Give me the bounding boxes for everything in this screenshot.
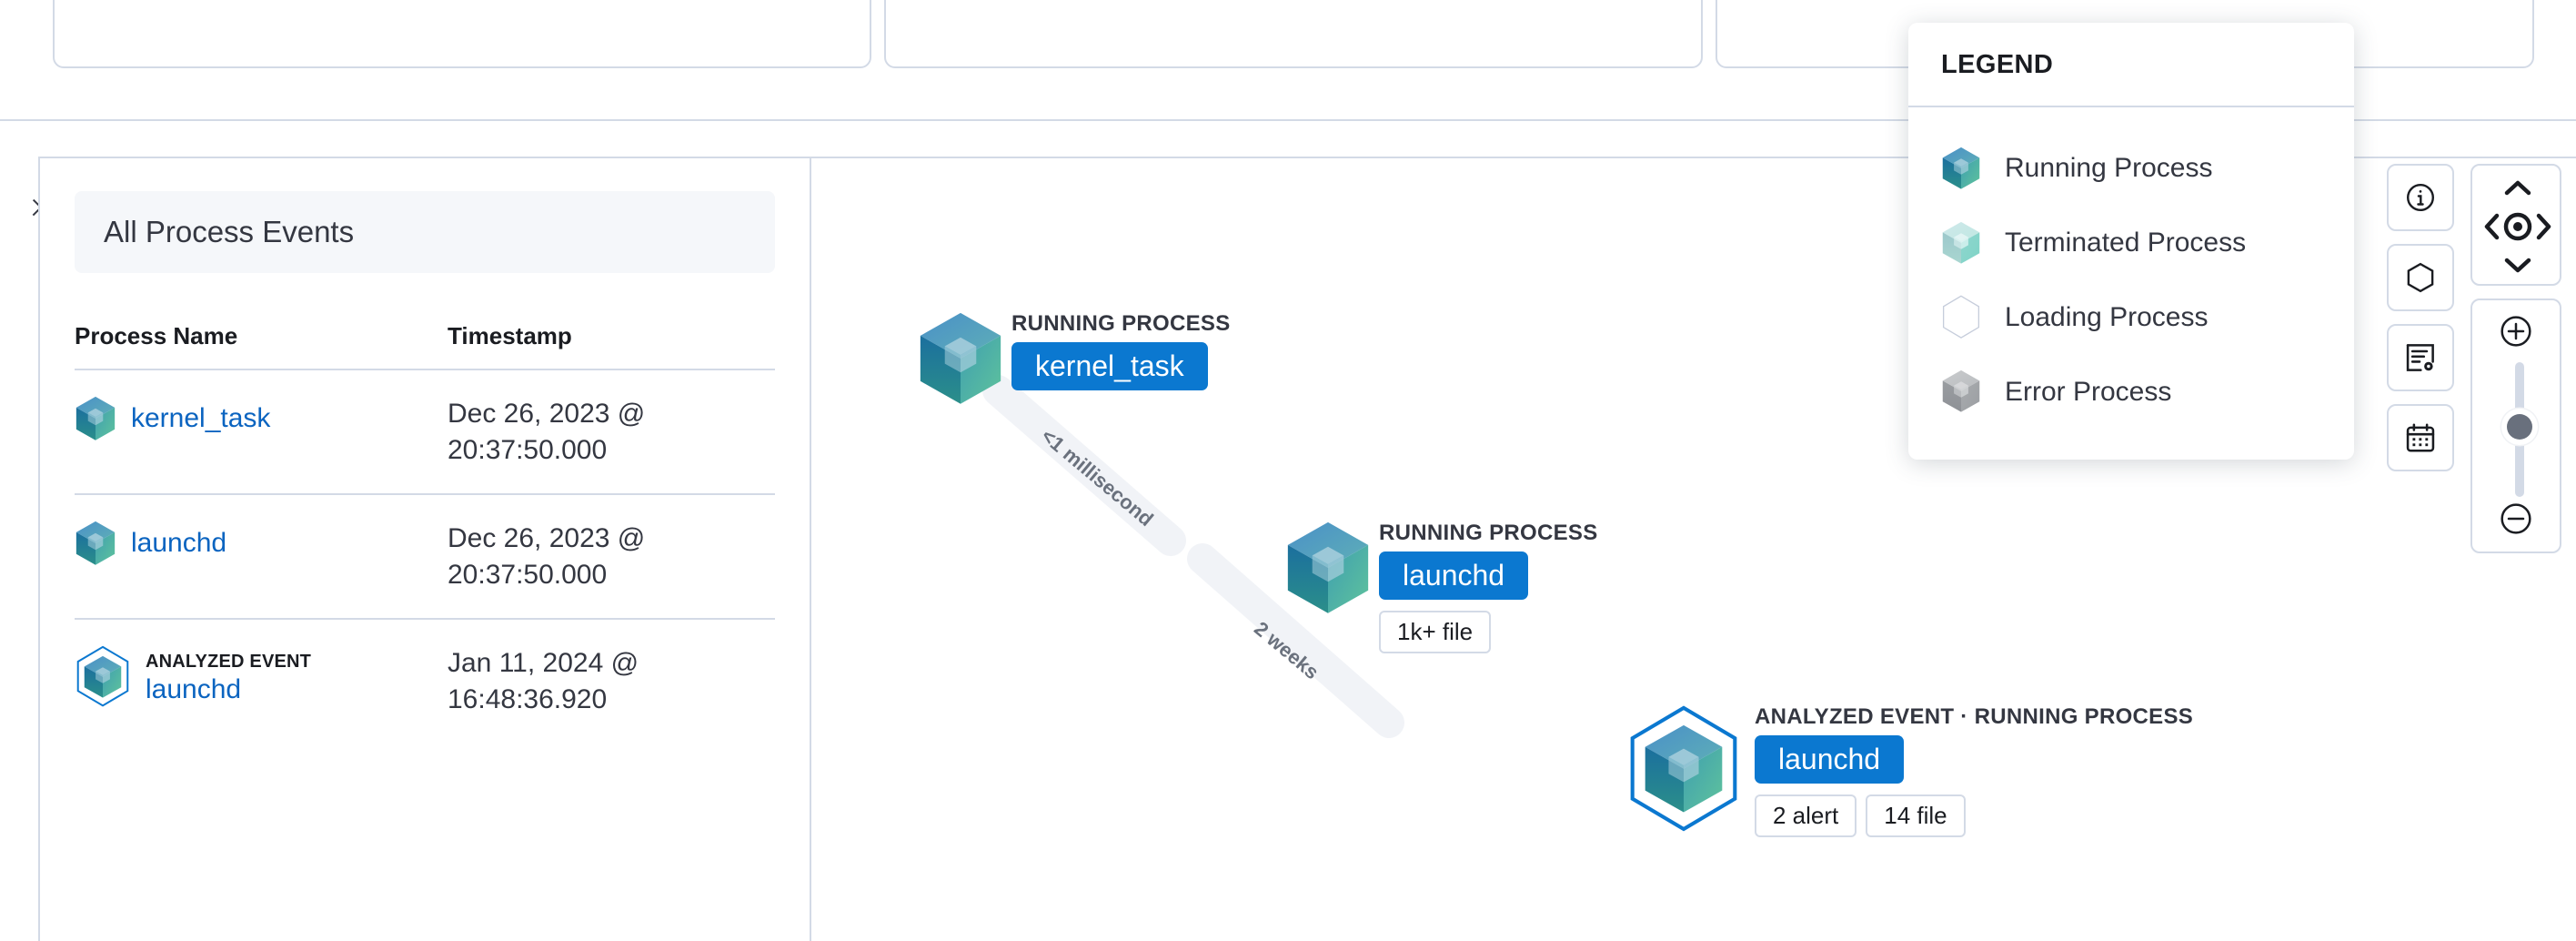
- legend-item-label: Loading Process: [2005, 299, 2208, 335]
- chevron-down-icon: [2507, 260, 2529, 270]
- date-picker-button[interactable]: [2387, 404, 2454, 471]
- top-panel-1[interactable]: [53, 0, 871, 68]
- legend-item: Error Process: [1941, 354, 2321, 429]
- graph-node-launchd[interactable]: RUNNING PROCESS launchd 1k+ file: [1284, 521, 1598, 653]
- legend-item-label: Error Process: [2005, 374, 2171, 410]
- badge-alert-count[interactable]: 2 alert: [1755, 794, 1857, 837]
- node-kicker: ANALYZED EVENT · RUNNING PROCESS: [1755, 704, 2193, 730]
- legend-panel: LEGEND Running Process: [1908, 23, 2354, 460]
- chevron-up-icon: [2507, 183, 2529, 193]
- node-shape-button[interactable]: [2387, 244, 2454, 311]
- node-badges: 1k+ file: [1379, 611, 1491, 653]
- chevron-right-icon: [2539, 216, 2549, 238]
- badge-file-count[interactable]: 1k+ file: [1379, 611, 1491, 653]
- process-name-link[interactable]: launchd: [146, 674, 311, 705]
- zoom-slider-thumb[interactable]: [2507, 414, 2532, 440]
- cell-timestamp: Dec 26, 2023 @ 20:37:50.000: [448, 369, 775, 494]
- process-events-table: Process Name Timestamp: [75, 308, 775, 744]
- legend-items: Running Process Terminated Process Loadi…: [1908, 107, 2354, 460]
- legend-item: Loading Process: [1941, 279, 2321, 354]
- list-settings-button[interactable]: [2387, 324, 2454, 391]
- timestamp-date: Dec 26, 2023 @: [448, 521, 775, 557]
- chevron-left-icon: [2487, 216, 2497, 238]
- timestamp-time: 16:48:36.920: [448, 682, 775, 718]
- col-process-name: Process Name: [75, 308, 448, 369]
- graph-tool-buttons: [2387, 164, 2454, 553]
- legend-item-label: Running Process: [2005, 150, 2212, 186]
- process-name-link[interactable]: kernel_task: [131, 403, 270, 434]
- zoom-in-plus-icon[interactable]: [2498, 313, 2534, 349]
- target-center-icon: [2506, 215, 2530, 238]
- graph-node-kernel-task[interactable]: RUNNING PROCESS kernel_task: [917, 311, 1231, 410]
- zoom-out-minus-icon[interactable]: [2498, 501, 2534, 537]
- timestamp-date: Jan 11, 2024 @: [448, 645, 775, 682]
- process-events-panel: All Process Events Process Name Timestam…: [38, 157, 810, 941]
- timestamp-time: 20:37:50.000: [448, 557, 775, 593]
- node-label[interactable]: launchd: [1379, 551, 1528, 600]
- analyzed-event-hex-cube-icon: [75, 645, 131, 712]
- table-row[interactable]: kernel_task Dec 26, 2023 @ 20:37:50.000: [75, 369, 775, 494]
- graph-node-launchd-analyzed[interactable]: ANALYZED EVENT · RUNNING PROCESS launchd…: [1625, 704, 2193, 837]
- timestamp-time: 20:37:50.000: [448, 432, 775, 469]
- terminated-process-cube-icon: [1941, 221, 1981, 265]
- zoom-slider-control[interactable]: [2470, 298, 2561, 553]
- graph-nav-controls: [2470, 164, 2561, 553]
- node-badges: 2 alert 14 file: [1755, 794, 1966, 837]
- list-settings-icon: [2403, 340, 2438, 375]
- cell-timestamp: Dec 26, 2023 @ 20:37:50.000: [448, 494, 775, 619]
- node-kicker: RUNNING PROCESS: [1379, 521, 1598, 546]
- legend-title: LEGEND: [1941, 50, 2053, 79]
- calendar-icon: [2403, 420, 2438, 455]
- running-process-cube-icon: [75, 521, 116, 566]
- node-label[interactable]: kernel_task: [1011, 342, 1208, 390]
- info-button[interactable]: [2387, 164, 2454, 231]
- timestamp-date: Dec 26, 2023 @: [448, 396, 775, 432]
- row-kicker: ANALYZED EVENT: [146, 652, 311, 673]
- panel-title-bar: All Process Events: [75, 191, 775, 273]
- node-label[interactable]: launchd: [1755, 735, 1904, 784]
- node-kicker: RUNNING PROCESS: [1011, 311, 1231, 337]
- legend-header: LEGEND: [1908, 23, 2354, 107]
- running-process-cube-icon: [1284, 521, 1372, 620]
- info-circle-icon: [2404, 181, 2437, 214]
- running-process-cube-icon: [1941, 147, 1981, 190]
- analyzed-event-hex-cube-icon: [1625, 704, 1742, 833]
- running-process-cube-icon: [75, 396, 116, 441]
- cell-process: launchd: [75, 494, 448, 619]
- table-row[interactable]: launchd Dec 26, 2023 @ 20:37:50.000: [75, 494, 775, 619]
- process-name-link[interactable]: launchd: [131, 528, 226, 559]
- legend-item: Terminated Process: [1941, 206, 2321, 280]
- hexagon-icon: [2403, 260, 2438, 295]
- running-process-cube-icon: [917, 311, 1004, 410]
- legend-item: Running Process: [1941, 131, 2321, 206]
- analyzer-screen: Close analyzer All Process Events Proces…: [0, 0, 2576, 941]
- col-timestamp: Timestamp: [448, 308, 775, 369]
- badge-file-count[interactable]: 14 file: [1866, 794, 1965, 837]
- cell-timestamp: Jan 11, 2024 @ 16:48:36.920: [448, 619, 775, 743]
- legend-item-label: Terminated Process: [2005, 225, 2246, 260]
- page-title: All Process Events: [104, 215, 354, 249]
- cell-process: kernel_task: [75, 369, 448, 494]
- cell-process: ANALYZED EVENT launchd: [75, 619, 448, 743]
- graph-controls: [2387, 164, 2561, 553]
- table-row[interactable]: ANALYZED EVENT launchd Jan 11, 2024 @ 16…: [75, 619, 775, 743]
- pan-pad[interactable]: [2470, 164, 2561, 286]
- error-process-cube-icon: [1941, 369, 1981, 413]
- top-panel-2[interactable]: [884, 0, 1703, 68]
- table-header-row: Process Name Timestamp: [75, 308, 775, 369]
- loading-process-hex-icon: [1941, 295, 1981, 339]
